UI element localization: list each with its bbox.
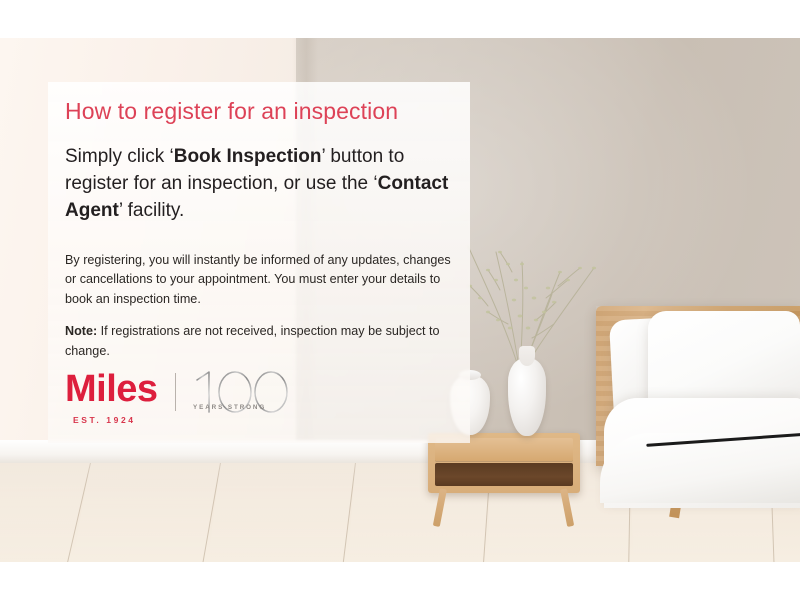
logo-divider: [175, 373, 176, 411]
letterbox-bottom: [0, 562, 800, 600]
floor-plank: [208, 463, 356, 562]
floor-plank: [73, 463, 221, 562]
nightstand-shelf: [435, 463, 573, 486]
body-paragraph-2: Note: If registrations are not received,…: [65, 322, 457, 361]
logo-wordmark: Miles: [65, 370, 158, 408]
lead-instruction: Simply click ‘Book Inspection’ button to…: [65, 144, 457, 225]
body-paragraph-1: By registering, you will instantly be in…: [65, 251, 457, 310]
logo-years-strong: YEARS STRONG: [193, 404, 266, 411]
duvet-fold: [600, 433, 800, 503]
page-title: How to register for an inspection: [65, 98, 457, 126]
note-label: Note:: [65, 324, 97, 338]
lead-part-3: ’ facility.: [119, 200, 184, 221]
letterbox-top: [0, 0, 800, 38]
message-panel: How to register for an inspection Simply…: [48, 82, 470, 443]
book-inspection-label: Book Inspection: [174, 146, 322, 167]
message-panel-content: How to register for an inspection Simply…: [65, 98, 457, 374]
note-text: If registrations are not received, inspe…: [65, 324, 440, 358]
miles-logo: Miles EST. 1924: [65, 370, 295, 440]
lead-part-1: Simply click ‘: [65, 146, 174, 167]
poster-screenshot: How to register for an inspection Simply…: [0, 0, 800, 600]
logo-established: EST. 1924: [73, 415, 136, 425]
